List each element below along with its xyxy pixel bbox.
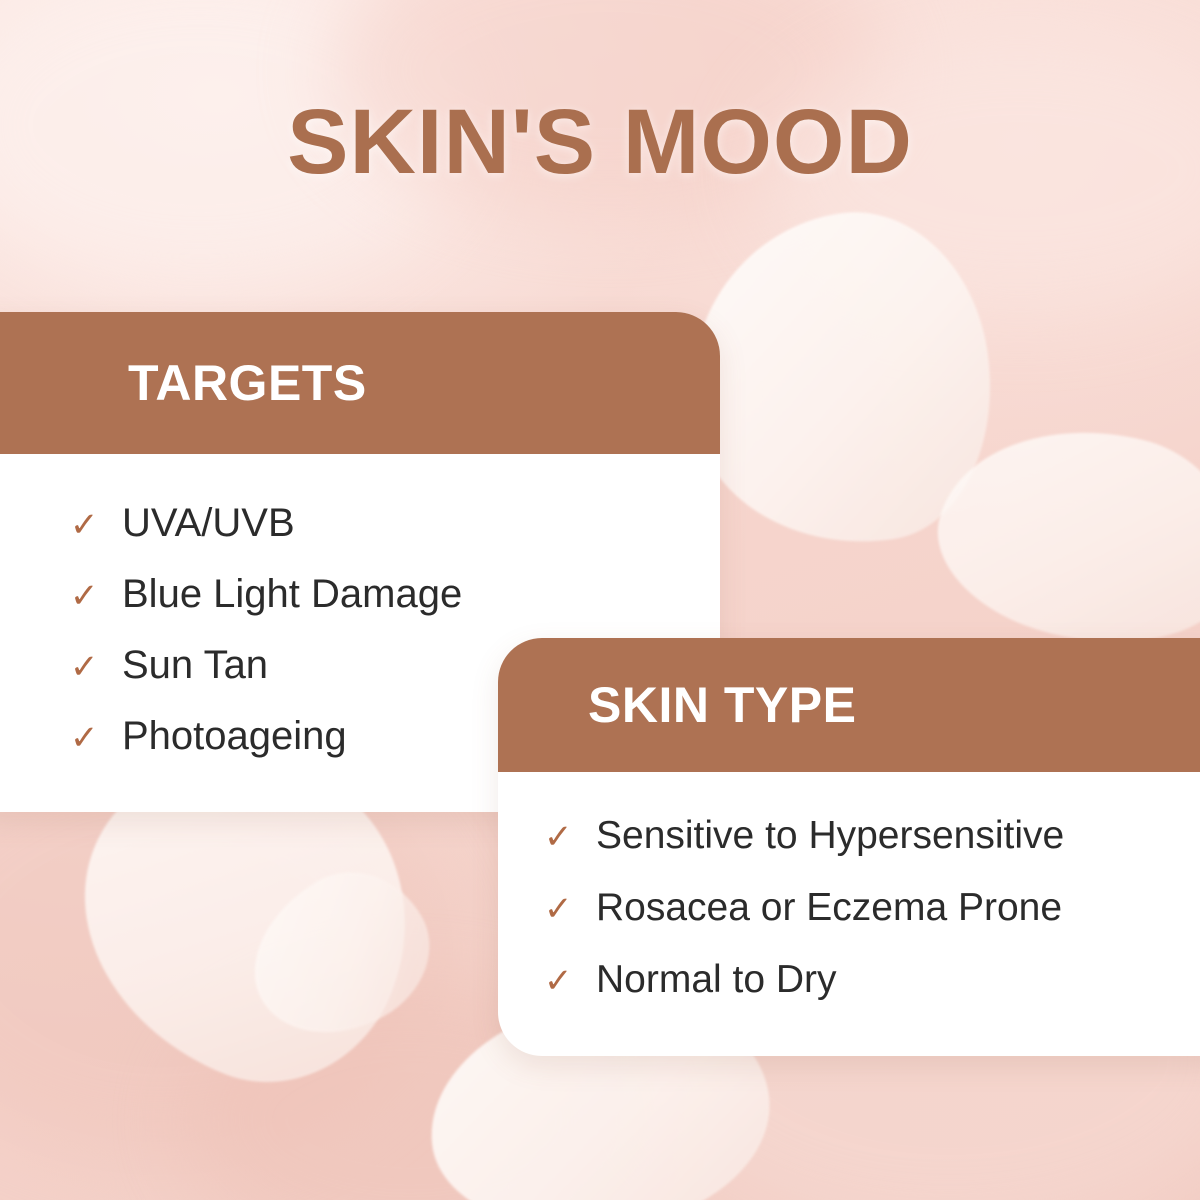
list-item-label: Normal to Dry: [596, 958, 837, 1002]
list-item-label: UVA/UVB: [122, 501, 295, 546]
list-item-label: Sun Tan: [122, 643, 268, 688]
list-item: ✓ Sensitive to Hypersensitive: [544, 800, 1180, 872]
list-item: ✓ Normal to Dry: [544, 944, 1180, 1016]
list-item: ✓ Rosacea or Eczema Prone: [544, 872, 1180, 944]
check-icon: ✓: [70, 721, 100, 755]
list-item-label: Blue Light Damage: [122, 572, 462, 617]
list-item: ✓ UVA/UVB: [70, 488, 680, 559]
targets-card-heading: TARGETS: [0, 312, 720, 454]
skin-type-list: ✓ Sensitive to Hypersensitive ✓ Rosacea …: [544, 800, 1180, 1016]
list-item-label: Rosacea or Eczema Prone: [596, 886, 1062, 930]
promo-graphic: SKIN'S MOOD TARGETS ✓ UVA/UVB ✓ Blue Lig…: [0, 0, 1200, 1200]
list-item-label: Photoageing: [122, 714, 347, 759]
list-item-label: Sensitive to Hypersensitive: [596, 814, 1064, 858]
list-item: ✓ Blue Light Damage: [70, 559, 680, 630]
check-icon: ✓: [70, 579, 100, 613]
skin-type-card-heading: SKIN TYPE: [498, 638, 1200, 772]
skin-type-card-body: ✓ Sensitive to Hypersensitive ✓ Rosacea …: [498, 772, 1200, 1056]
check-icon: ✓: [544, 892, 574, 926]
check-icon: ✓: [544, 820, 574, 854]
page-title: SKIN'S MOOD: [0, 96, 1200, 188]
check-icon: ✓: [70, 508, 100, 542]
check-icon: ✓: [70, 650, 100, 684]
check-icon: ✓: [544, 964, 574, 998]
skin-type-card: SKIN TYPE ✓ Sensitive to Hypersensitive …: [498, 638, 1200, 1056]
